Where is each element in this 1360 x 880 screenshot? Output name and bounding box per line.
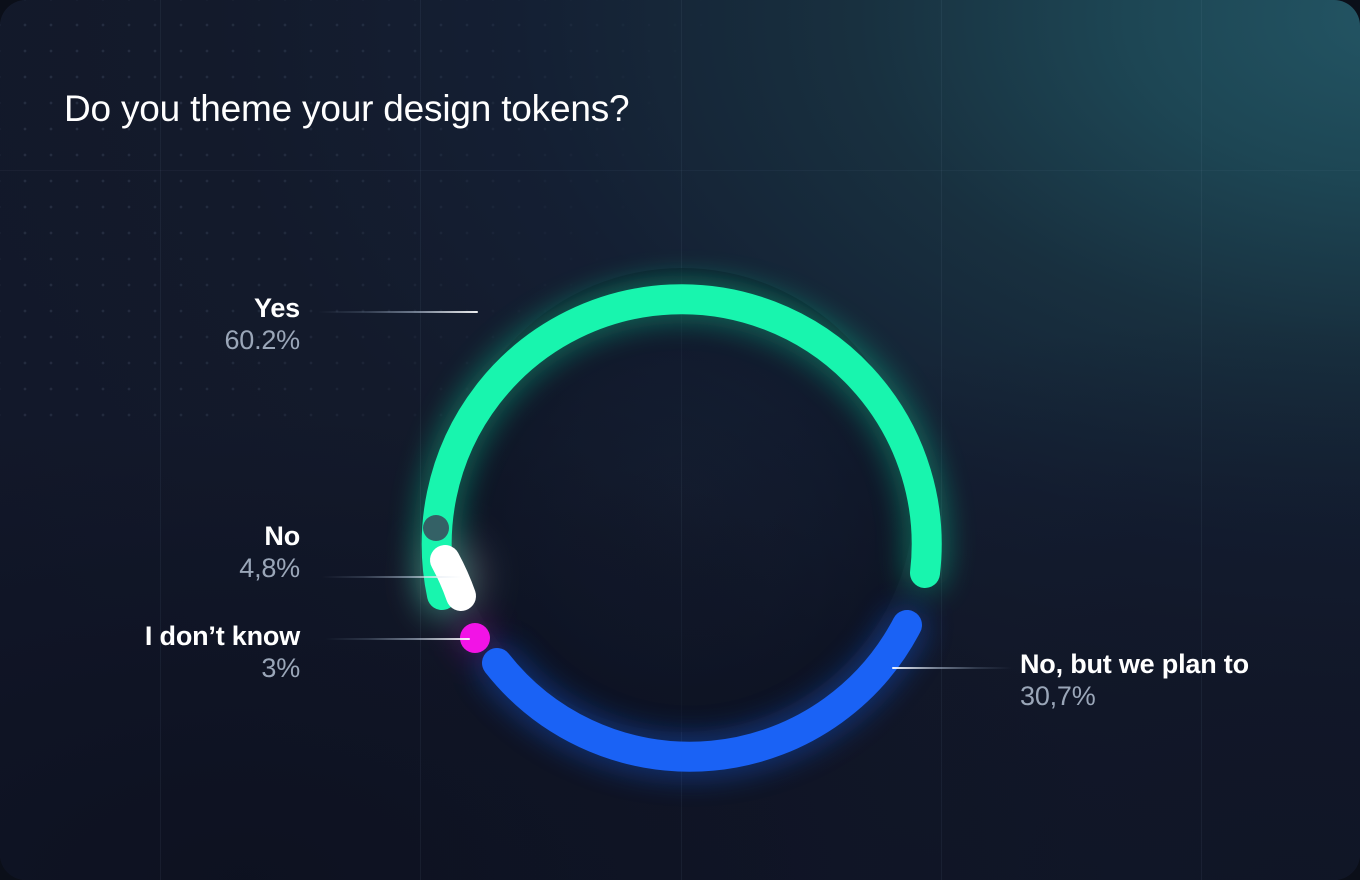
callout-no-but-plan-value: 30,7% (1020, 682, 1340, 711)
callout-yes: Yes 60.2% (60, 294, 300, 355)
donut-inner-shade (450, 268, 914, 732)
callout-no-but-plan: No, but we plan to 30,7% (1020, 650, 1340, 711)
callout-i-dont-know-label: I don’t know (20, 622, 300, 651)
callout-no-label: No (60, 522, 300, 551)
leader-line-yes (318, 311, 478, 313)
callout-yes-value: 60.2% (60, 326, 300, 355)
chart-card: Do you theme your design tokens? (0, 0, 1360, 880)
callout-no-but-plan-label: No, but we plan to (1020, 650, 1340, 679)
donut-slice-no[interactable] (445, 560, 461, 596)
donut-slice-marker[interactable] (423, 515, 449, 541)
callout-i-dont-know: I don’t know 3% (20, 622, 300, 683)
callout-no: No 4,8% (60, 522, 300, 583)
leader-line-no (322, 576, 462, 578)
donut-chart-svg (0, 0, 1360, 880)
leader-line-i-dont-know (325, 638, 470, 640)
callout-i-dont-know-value: 3% (20, 654, 300, 683)
callout-no-value: 4,8% (60, 554, 300, 583)
callout-yes-label: Yes (60, 294, 300, 323)
donut-chart (0, 0, 1360, 880)
leader-line-no-but-plan (892, 667, 1012, 669)
